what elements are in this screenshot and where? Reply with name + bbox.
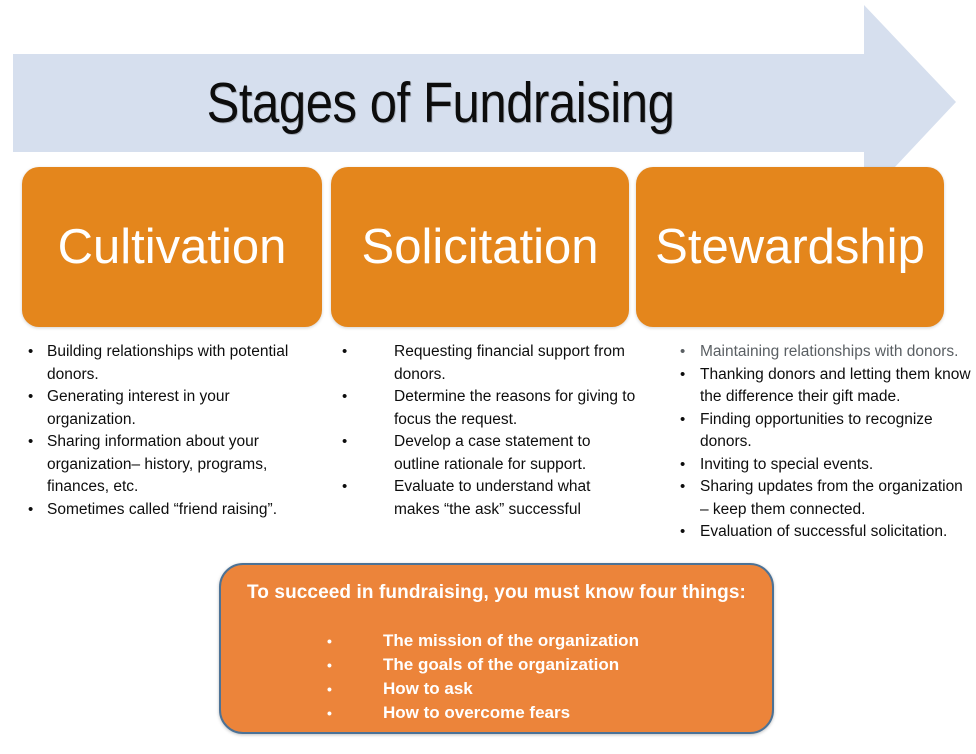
list-item-text: The goals of the organization (383, 655, 619, 674)
bullet-marker-icon: • (342, 341, 347, 364)
stage-box-solicitation[interactable]: Solicitation (331, 167, 629, 327)
bullet-list: • Building relationships with potential … (20, 341, 320, 521)
bullet-marker-icon: • (680, 521, 685, 544)
list-item-text: Evaluation of successful solicitation. (700, 523, 947, 540)
list-item-text: Inviting to special events. (700, 456, 873, 473)
list-item: • Requesting financial support from dono… (336, 341, 636, 386)
bullet-marker-icon: • (28, 341, 33, 364)
list-item: • Evaluate to understand what makes “the… (336, 476, 636, 521)
list-item-text: The mission of the organization (383, 631, 639, 650)
slide-canvas: Stages of Fundraising Cultivation Solici… (0, 0, 976, 754)
bullet-column-cultivation: • Building relationships with potential … (20, 341, 320, 521)
list-item-text: Determine the reasons for giving to focu… (394, 388, 635, 428)
list-item: • Inviting to special events. (672, 454, 972, 477)
callout-list: • The mission of the organization • The … (321, 629, 639, 725)
stage-label: Solicitation (362, 219, 599, 275)
bullet-column-stewardship: • Maintaining relationships with donors.… (672, 341, 972, 544)
list-item-text: Thanking donors and letting them know th… (700, 366, 971, 406)
bullet-marker-icon: • (342, 386, 347, 409)
list-item-text: Evaluate to understand what makes “the a… (394, 478, 590, 518)
list-item: • How to ask (321, 677, 639, 701)
bullet-marker-icon: • (342, 476, 347, 499)
list-item: • Develop a case statement to outline ra… (336, 431, 636, 476)
list-item-text: How to overcome fears (383, 703, 570, 722)
list-item: • Sharing information about your organiz… (20, 431, 320, 499)
bullet-list: • Requesting financial support from dono… (336, 341, 636, 521)
bullet-marker-icon: • (327, 677, 332, 701)
list-item-text: Sharing updates from the organization – … (700, 478, 963, 518)
list-item: • Evaluation of successful solicitation. (672, 521, 972, 544)
list-item: • Sometimes called “friend raising”. (20, 499, 320, 522)
bullet-marker-icon: • (327, 653, 332, 677)
list-item-text: Finding opportunities to recognize donor… (700, 411, 933, 451)
list-item-text: Generating interest in your organization… (47, 388, 230, 428)
list-item-text: Building relationships with potential do… (47, 343, 288, 383)
stage-label: Stewardship (655, 219, 925, 275)
bullet-marker-icon: • (28, 431, 33, 454)
bullet-marker-icon: • (680, 454, 685, 477)
list-item-text: Develop a case statement to outline rati… (394, 433, 590, 473)
list-item-text: Sharing information about your organizat… (47, 433, 267, 495)
stage-box-cultivation[interactable]: Cultivation (22, 167, 322, 327)
list-item: • Determine the reasons for giving to fo… (336, 386, 636, 431)
callout-heading: To succeed in fundraising, you must know… (221, 582, 772, 604)
bullet-marker-icon: • (327, 701, 332, 725)
list-item: • Maintaining relationships with donors. (672, 341, 972, 364)
stage-label: Cultivation (58, 219, 287, 275)
list-item: • Sharing updates from the organization … (672, 476, 972, 521)
list-item: • How to overcome fears (321, 701, 639, 725)
list-item: • Building relationships with potential … (20, 341, 320, 386)
page-title: Stages of Fundraising (73, 54, 808, 152)
list-item: • The goals of the organization (321, 653, 639, 677)
list-item-text: Maintaining relationships with donors. (700, 343, 958, 360)
list-item-text: Requesting financial support from donors… (394, 343, 625, 383)
bullet-marker-icon: • (680, 409, 685, 432)
bullet-marker-icon: • (680, 341, 685, 364)
list-item: • Generating interest in your organizati… (20, 386, 320, 431)
stage-box-stewardship[interactable]: Stewardship (636, 167, 944, 327)
bullet-marker-icon: • (680, 364, 685, 387)
list-item-text: Sometimes called “friend raising”. (47, 501, 277, 518)
bullet-marker-icon: • (327, 629, 332, 653)
list-item: • Finding opportunities to recognize don… (672, 409, 972, 454)
bullet-list: • Maintaining relationships with donors.… (672, 341, 972, 544)
bullet-column-solicitation: • Requesting financial support from dono… (336, 341, 636, 521)
bullet-marker-icon: • (680, 476, 685, 499)
list-item: • The mission of the organization (321, 629, 639, 653)
list-item: • Thanking donors and letting them know … (672, 364, 972, 409)
bullet-marker-icon: • (28, 499, 33, 522)
callout-box: To succeed in fundraising, you must know… (219, 563, 774, 734)
bullet-marker-icon: • (342, 431, 347, 454)
list-item-text: How to ask (383, 679, 473, 698)
bullet-marker-icon: • (28, 386, 33, 409)
